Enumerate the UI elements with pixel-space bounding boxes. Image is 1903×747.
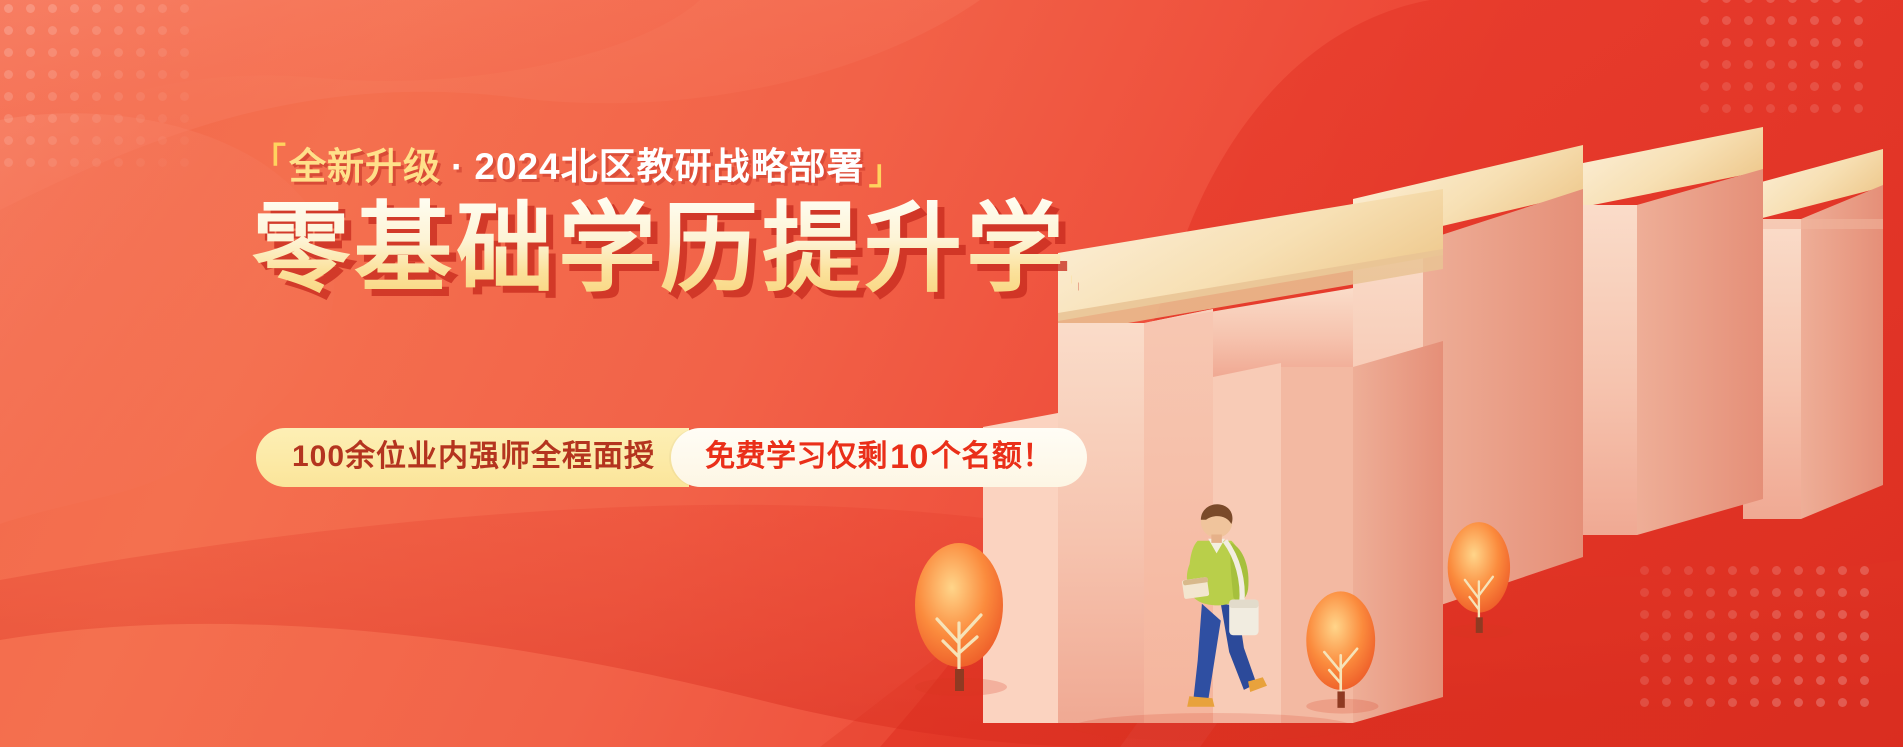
eyebrow-gold-text: 全新升级 — [289, 148, 441, 185]
arch-2 — [1353, 145, 1583, 611]
bracket-open: 「 — [252, 144, 287, 178]
banner-eyebrow: 「 全新升级 · 2024北区教研战略部署 」 — [252, 148, 1072, 185]
ground-plane — [820, 470, 1903, 747]
dot-pattern-top-left — [4, 4, 202, 180]
tree-middle — [1306, 591, 1378, 713]
banner-copy: 「 全新升级 · 2024北区教研战略部署 」 零基础学历提升学霸班 — [252, 148, 1072, 301]
badge-free-slots[interactable]: 免费学习仅剩 10 个名额！ — [671, 428, 1087, 487]
banner-headline: 零基础学历提升学霸班 — [252, 197, 1072, 301]
mass-right — [880, 0, 1903, 747]
wave-bottom — [0, 505, 1903, 747]
eyebrow-separator: · — [451, 148, 464, 185]
badge-free-prefix: 免费学习仅剩 — [705, 442, 888, 472]
background-waves-svg — [0, 0, 1903, 747]
wave-top-left-2 — [0, 0, 700, 150]
student-figure — [1182, 504, 1267, 706]
background-decoration — [0, 0, 1903, 747]
tree-left — [915, 543, 1007, 696]
tree-right — [1448, 522, 1514, 638]
arch-shadow — [1073, 713, 1353, 741]
light-streak — [1120, 470, 1400, 747]
dot-pattern-top-right — [1700, 0, 1876, 126]
dot-pattern-bottom-right — [1640, 566, 1882, 720]
arch-4 — [1743, 149, 1883, 519]
arch-3 — [1573, 127, 1763, 535]
bracket-close: 」 — [869, 156, 904, 190]
eyebrow-white-text: 2024北区教研战略部署 — [474, 148, 864, 185]
badge-free-suffix: 个名额！ — [931, 442, 1053, 472]
badge-instructors[interactable]: 100余位业内强师全程面授 — [256, 428, 689, 487]
promo-banner: 「 全新升级 · 2024北区教研战略部署 」 零基础学历提升学霸班 100余位… — [0, 0, 1903, 747]
banner-badges: 100余位业内强师全程面授 免费学习仅剩 10 个名额！ — [256, 428, 1087, 487]
badge-free-count: 10 — [888, 440, 931, 474]
